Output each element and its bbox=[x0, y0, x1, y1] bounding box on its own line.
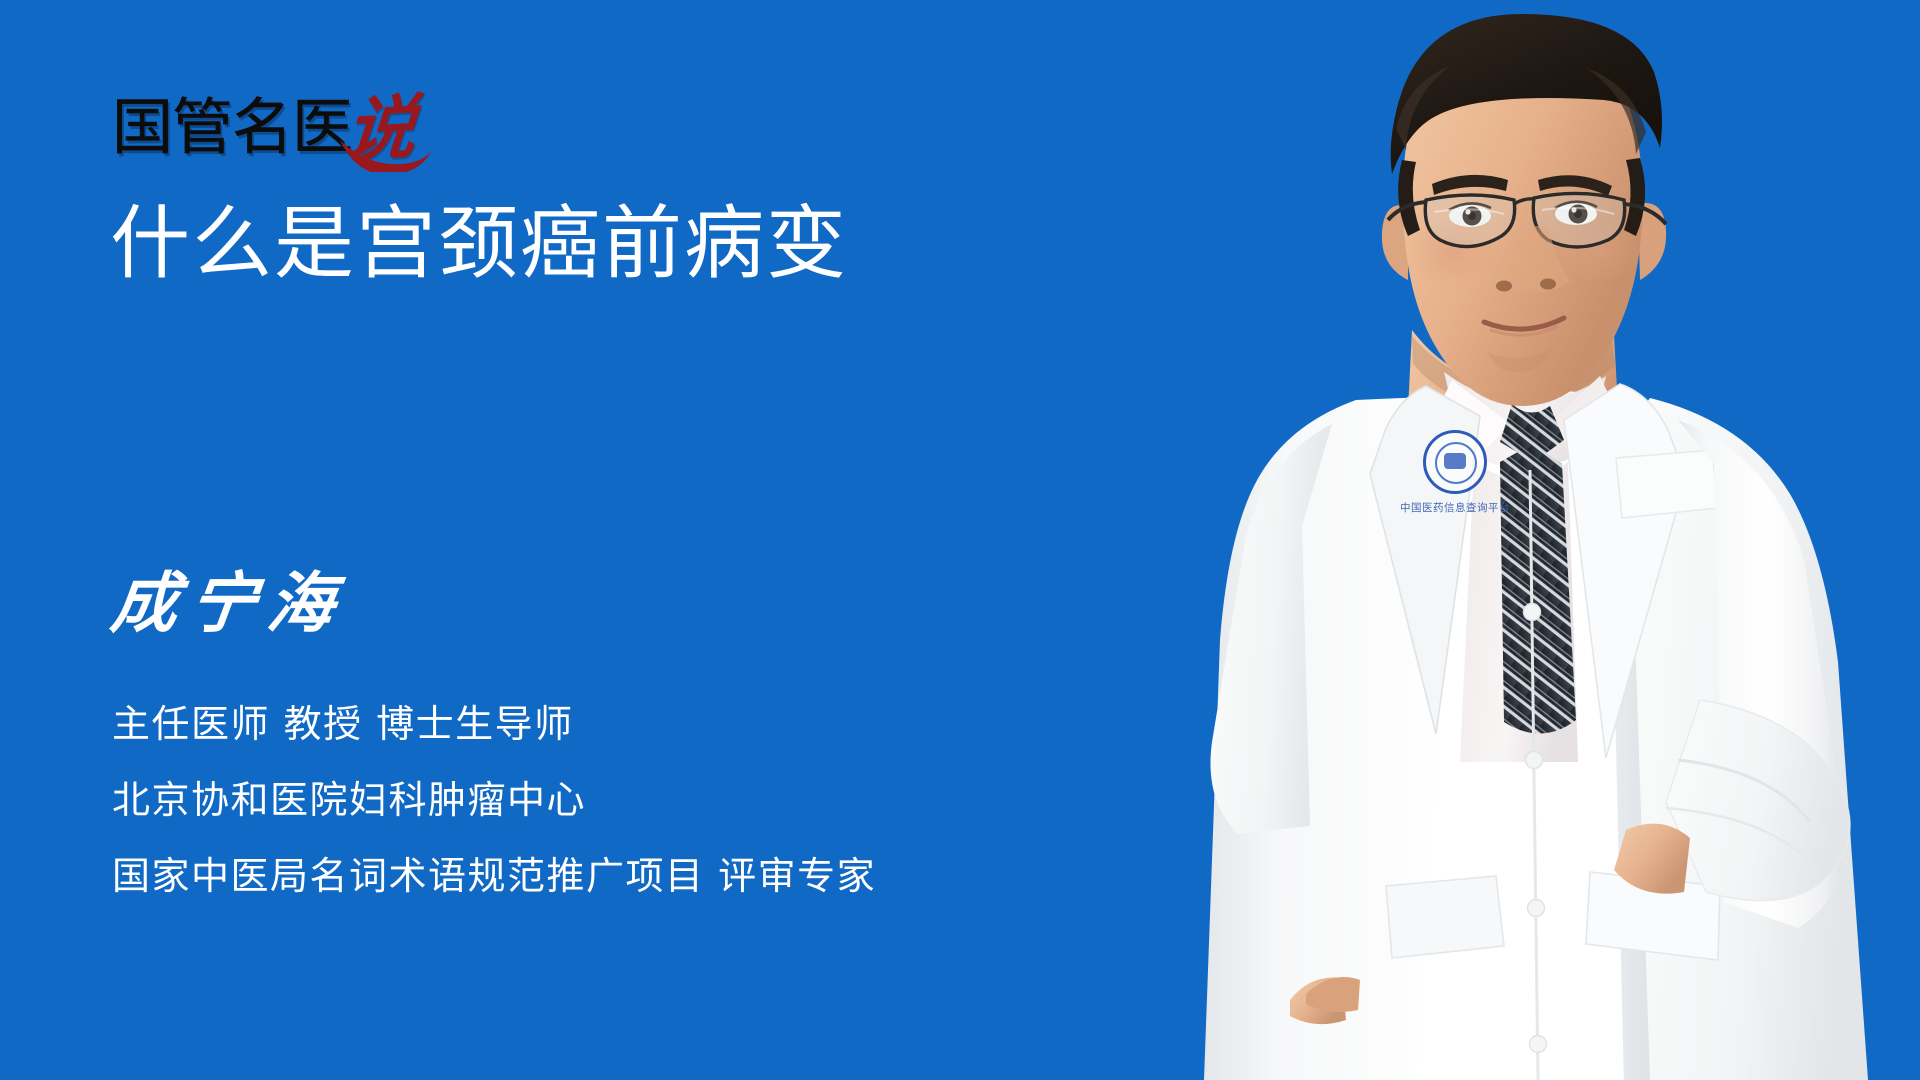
brand-logo-main-text: 国管名医 bbox=[112, 97, 352, 158]
brand-logo: 国管名医 说 bbox=[112, 86, 416, 158]
speaker-credentials: 主任医师 教授 博士生导师 北京协和医院妇科肿瘤中心 国家中医局名词术语规范推广… bbox=[112, 705, 876, 897]
slide-text-column: 国管名医 说 什么是宫颈癌前病变 成宁海 主任医师 教授 博士生导师 北京协和医… bbox=[0, 0, 1180, 1080]
page-title: 什么是宫颈癌前病变 bbox=[110, 202, 848, 287]
brand-logo-accent-text: 说 bbox=[343, 92, 420, 166]
doctor-figure-illustration bbox=[1060, 0, 1920, 1080]
credential-line: 主任医师 教授 博士生导师 bbox=[112, 705, 876, 745]
speaker-name: 成宁海 bbox=[108, 570, 350, 636]
credential-line: 北京协和医院妇科肿瘤中心 bbox=[112, 781, 876, 821]
credential-line: 国家中医局名词术语规范推广项目 评审专家 bbox=[112, 857, 876, 897]
presentation-slide: 中国医药信息查询平台 国管名医 说 什么是宫颈癌前病变 成宁海 主任医师 教授 … bbox=[0, 0, 1920, 1080]
doctor-portrait-photo: 中国医药信息查询平台 bbox=[1060, 0, 1920, 1080]
